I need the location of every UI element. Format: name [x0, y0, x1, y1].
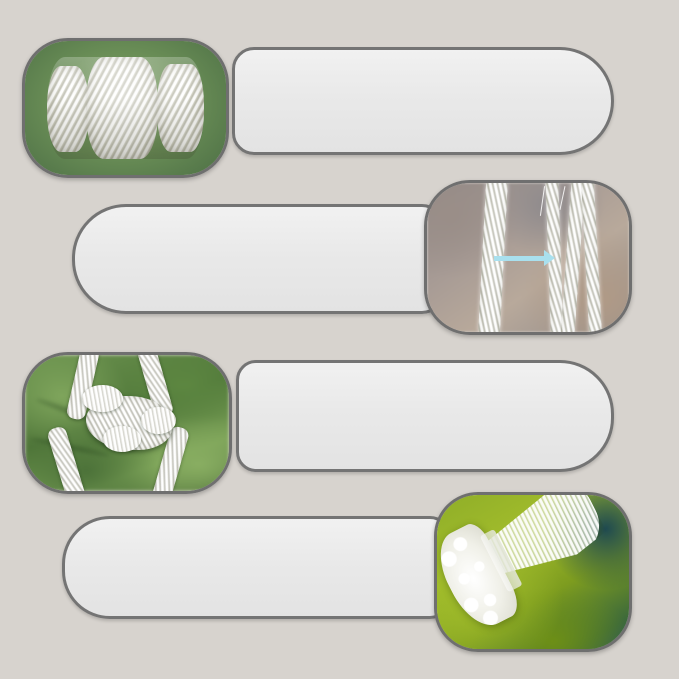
rope-coil-segment-right [157, 64, 204, 152]
rope-coil-segment-center [86, 57, 158, 159]
rope-knot-photo [22, 352, 232, 494]
zip-ties-photo [434, 492, 632, 652]
knot-lobe [103, 426, 142, 452]
rope-coil-segment-left [47, 66, 89, 152]
knot-lobe [141, 407, 176, 434]
knot-lobe [82, 385, 123, 412]
arrow-right-icon [494, 256, 547, 261]
feature-card-durable-zip-ties [62, 516, 450, 619]
feature-card-high-quality [232, 47, 614, 155]
product-feature-infographic: High Quality √ Polyester √ No elasticity… [0, 0, 679, 679]
rope-coil-photo [22, 38, 229, 178]
feature-card-designed-with-twisted [236, 360, 614, 472]
rope-strands-photo [424, 180, 632, 335]
feature-card-3-strand-woven [72, 204, 444, 314]
rope-coil-illustration [47, 57, 204, 159]
